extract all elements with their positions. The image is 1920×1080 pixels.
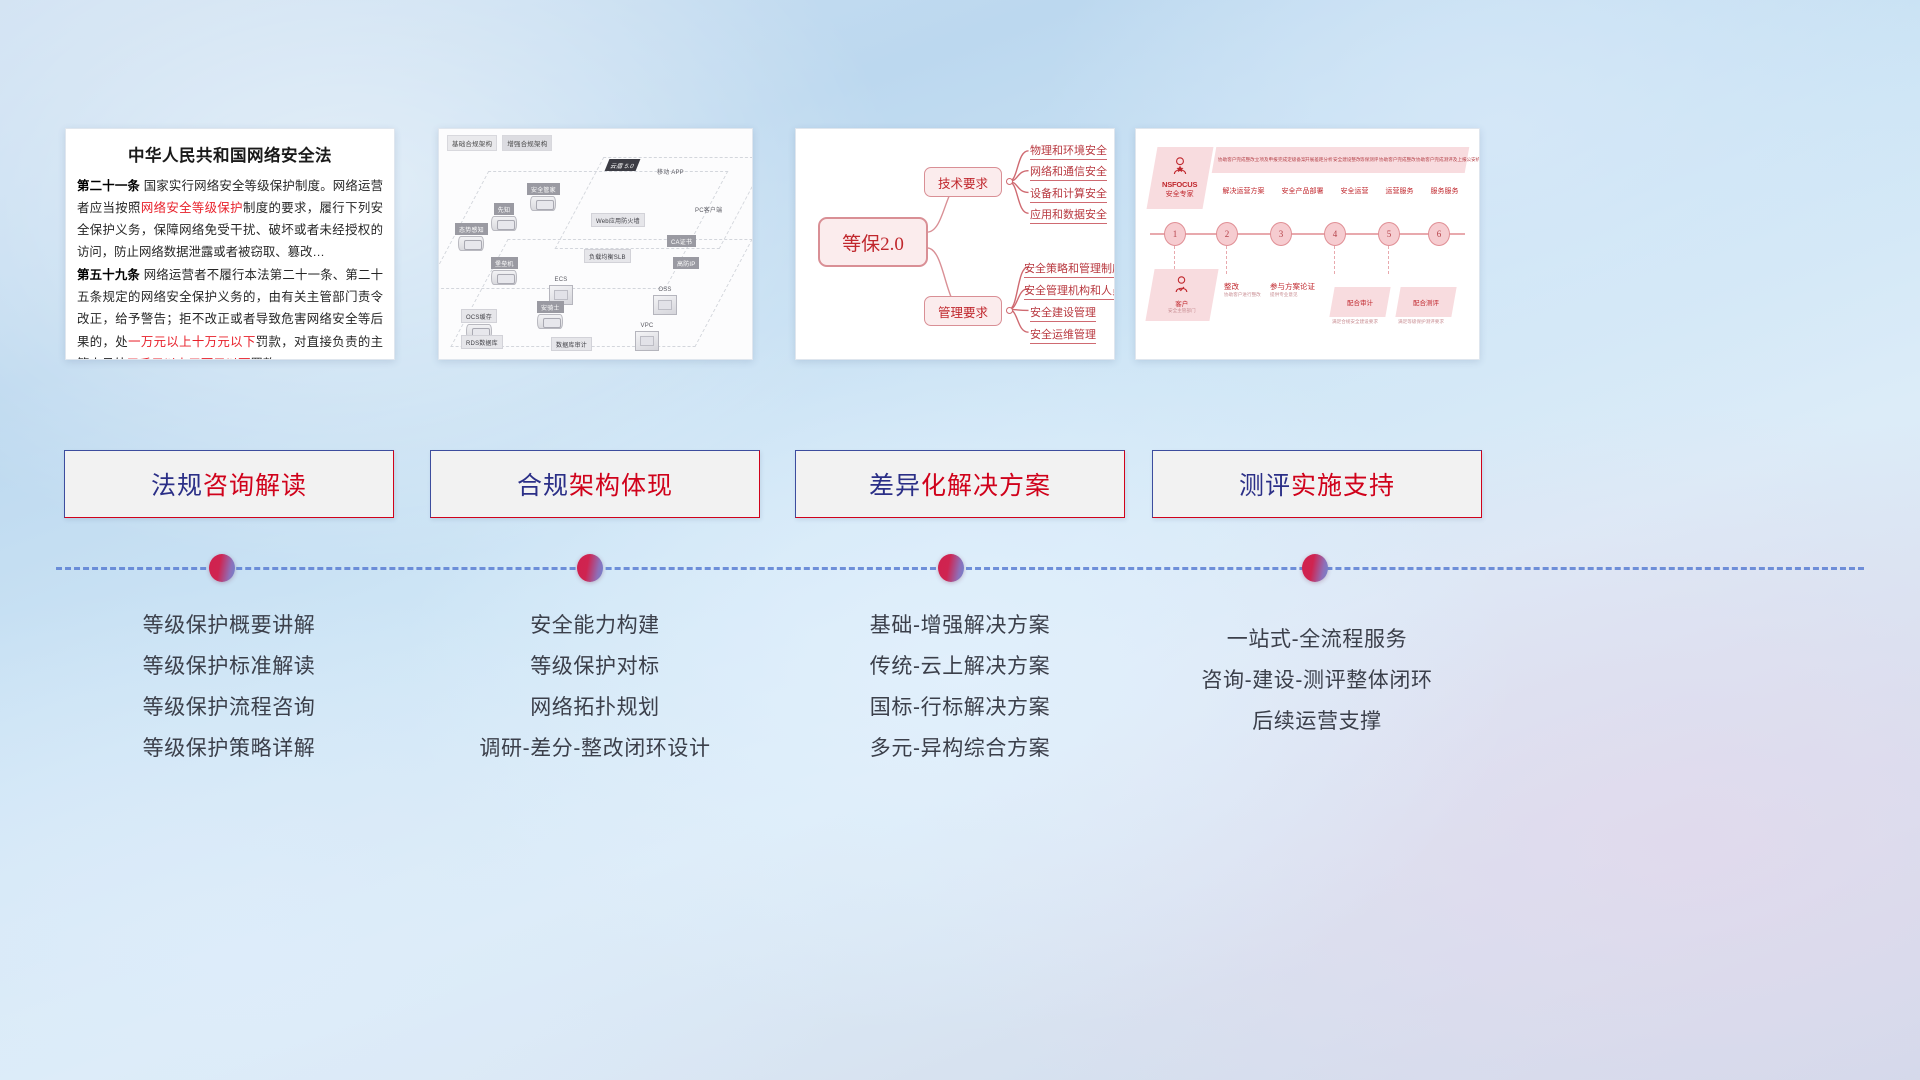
cylinder-icon [530, 196, 556, 211]
arch-label-security-butler: 安全管家 [527, 183, 560, 195]
label-1-tail: 咨询解读 [203, 472, 307, 500]
nsfocus-tag-0-sub: 协助客户进行整改 [1224, 292, 1261, 298]
mindmap-leaf-device: 设备和计算安全 [1030, 185, 1107, 203]
card-row: 中华人民共和国网络安全法 第二十一条 国家实行网络安全等级保护制度。网络运营者应… [0, 128, 1920, 363]
label-box-regulation-consulting[interactable]: 法规咨询解读 [64, 450, 394, 518]
list-item: 等级保护流程咨询 [64, 687, 394, 728]
law-title: 中华人民共和国网络安全法 [66, 142, 394, 166]
client-icon [1174, 276, 1189, 293]
nsfocus-step-1[interactable]: 1 [1164, 222, 1186, 246]
arch-label-xianzhi: 先知 [494, 203, 514, 215]
arch-node-vpc: VPC [635, 321, 659, 351]
arch-node-xianzhi: 先知 [491, 203, 517, 231]
mindmap: 等保2.0 技术要求 管理要求 物理和环境安全 网络和通信安全 设备和计算安全 … [796, 129, 1114, 359]
label-3-tail: 化解决方案 [921, 472, 1051, 500]
architecture-tabs: 基础合规架构 增强合规架构 [447, 135, 552, 151]
mindmap-leaf-network: 网络和通信安全 [1030, 163, 1107, 181]
label-2-tail: 架构体现 [569, 472, 673, 500]
poster-canvas: 中华人民共和国网络安全法 第二十一条 国家实行网络安全等级保护制度。网络运营者应… [0, 0, 1920, 1080]
arch-node-rds: RDS数据库 [461, 335, 503, 349]
list-item: 多元-异构综合方案 [795, 728, 1125, 769]
arch-node-situational-awareness: 态势感知 [455, 223, 488, 251]
arch-node-oss: OSS [653, 285, 677, 315]
nsfocus-tag-3-title: 配合测评 [1413, 297, 1439, 307]
label-row: 法规咨询解读 合规架构体现 差异化解决方案 测评实施支持 [0, 450, 1920, 520]
nsfocus-step-4[interactable]: 4 [1324, 222, 1346, 246]
law-article-59: 第五十九条 网络运营者不履行本法第二十一条、第二十五条规定的网络安全保护义务的，… [77, 264, 383, 360]
timeline [56, 567, 1864, 569]
connector-dash-4 [1388, 246, 1389, 274]
nsfocus-tag-2-title: 配合审计 [1347, 297, 1373, 307]
list-item: 等级保护对标 [430, 646, 760, 687]
label-box-assessment-support[interactable]: 测评实施支持 [1152, 450, 1482, 518]
arch-label-anti-ddos: 高防IP [673, 257, 699, 269]
arch-label-ecs: ECS [551, 275, 572, 284]
label-2-head: 合规 [517, 472, 569, 500]
law-article-59-highlight-1: 一万元以上十万元以下 [128, 335, 256, 349]
strip-item-3: 安全建设整改 [1333, 157, 1361, 163]
strip-item-4: 等保测评 [1360, 157, 1378, 163]
timeline-marker-4[interactable] [1302, 554, 1328, 582]
label-box-differentiated-solution[interactable]: 差异化解决方案 [795, 450, 1125, 518]
strip-item-2: 开展差距分析 [1305, 157, 1333, 163]
mindmap-branch-technical[interactable]: 技术要求 [924, 167, 1002, 197]
mindmap-expand-icon-mgmt[interactable] [1006, 307, 1013, 314]
law-article-21-label: 第二十一条 [77, 179, 140, 193]
card-cybersecurity-law[interactable]: 中华人民共和国网络安全法 第二十一条 国家实行网络安全等级保护制度。网络运营者应… [65, 128, 395, 360]
card-compliance-architecture[interactable]: 基础合规架构 增强合规架构 云盾 5.0 安全管家 先知 态势感知 [438, 128, 753, 360]
arch-label-pc-client: PC客户端 [691, 203, 726, 215]
arch-label-ocs-cache: OCS缓存 [461, 309, 497, 323]
nsfocus-process-diagram: NSFOCUS 安全专家 协助客户完成整改立项及申报 完成定级备案 开展差距分析… [1136, 129, 1479, 359]
mindmap-core-node[interactable]: 等保2.0 [818, 217, 928, 267]
detail-column-1: 等级保护概要讲解 等级保护标准解读 等级保护流程咨询 等级保护策略详解 [64, 605, 394, 769]
tab-enhanced-architecture[interactable]: 增强合规架构 [502, 135, 552, 151]
list-item: 传统-云上解决方案 [795, 646, 1125, 687]
law-article-59-text-c: 罚款。 [250, 357, 287, 360]
strip-item-5: 协助客户完成整改 [1379, 157, 1416, 163]
nsfocus-tag-3-sub: 满足等级保护测评要求 [1398, 319, 1444, 325]
nsfocus-step-6[interactable]: 6 [1428, 222, 1450, 246]
list-item: 后续运营支撑 [1152, 701, 1482, 742]
list-item: 咨询-建设-测评整体闭环 [1152, 660, 1482, 701]
nsfocus-step-3[interactable]: 3 [1270, 222, 1292, 246]
list-item: 等级保护标准解读 [64, 646, 394, 687]
label-text-1: 法规咨询解读 [151, 466, 307, 502]
cylinder-icon [458, 236, 484, 251]
label-4-tail: 实施支持 [1291, 472, 1395, 500]
strip-item-0: 协助客户完成整改立项及申报 [1218, 157, 1278, 163]
mindmap-leaf-operation: 安全运维管理 [1030, 326, 1096, 344]
label-text-4: 测评实施支持 [1239, 466, 1395, 502]
cylinder-icon [491, 216, 517, 231]
law-article-21: 第二十一条 国家实行网络安全等级保护制度。网络运营者应当按照网络安全等级保护制度… [77, 175, 383, 263]
timeline-marker-2[interactable] [577, 554, 603, 582]
mindmap-branch-management[interactable]: 管理要求 [924, 296, 1002, 326]
arch-label-ca: CA证书 [667, 235, 696, 247]
nsfocus-brand: NSFOCUS [1162, 180, 1197, 189]
mindmap-leaf-policy: 安全策略和管理制度 [1024, 260, 1115, 278]
strip-item-1: 完成定级备案 [1278, 157, 1306, 163]
list-item: 网络拓扑规划 [430, 687, 760, 728]
list-item: 调研-差分-整改闭环设计 [430, 728, 760, 769]
nsfocus-tag-1: 参与方案论证 提供专业意见 [1270, 281, 1315, 298]
mindmap-leaf-physical: 物理和环境安全 [1030, 142, 1107, 160]
law-article-59-label: 第五十九条 [77, 268, 140, 282]
arch-label-slb: 负载均衡SLB [584, 249, 631, 263]
client-label: 客户 [1168, 298, 1196, 308]
storage-icon [653, 295, 677, 315]
list-item: 等级保护概要讲解 [64, 605, 394, 646]
mindmap-leaf-application: 应用和数据安全 [1030, 206, 1107, 224]
nsfocus-tag-2-sub: 满足合规安全建设要求 [1332, 319, 1378, 325]
arch-node-cloudshield: 云盾 5.0 [605, 159, 641, 171]
cylinder-icon [491, 270, 517, 285]
phase-4: 服务服务 [1431, 186, 1459, 196]
phase-3: 运营服务 [1386, 186, 1414, 196]
nsfocus-expert-badge: NSFOCUS 安全专家 [1147, 147, 1214, 209]
arch-label-db-audit: 数据库审计 [551, 337, 592, 351]
nsfocus-tag-3: 配合测评 [1395, 287, 1456, 317]
connector-dash-3 [1334, 246, 1335, 274]
label-text-2: 合规架构体现 [517, 466, 673, 502]
phase-0: 解决运营方案 [1223, 186, 1265, 196]
nsfocus-tag-1-title: 参与方案论证 [1270, 282, 1315, 291]
law-article-21-highlight: 网络安全等级保护 [141, 201, 243, 215]
list-item: 一站式-全流程服务 [1152, 619, 1482, 660]
mindmap-expand-icon-tech[interactable] [1006, 178, 1013, 185]
strip-item-6: 协助客户完成测评及上报公安机关 [1416, 157, 1480, 163]
nsfocus-tag-2: 配合审计 [1329, 287, 1390, 317]
timeline-marker-3[interactable] [938, 554, 964, 582]
arch-label-vpc: VPC [637, 321, 658, 330]
arch-label-situational-awareness: 态势感知 [455, 223, 488, 235]
timeline-marker-1[interactable] [209, 554, 235, 582]
nsfocus-client-badge: 客户 安全主管部门 [1145, 269, 1218, 321]
label-3-head: 差异 [869, 472, 921, 500]
nsfocus-timeline-track [1150, 233, 1465, 235]
list-item: 安全能力构建 [430, 605, 760, 646]
list-item: 国标-行标解决方案 [795, 687, 1125, 728]
law-article-59-highlight-2: 五千元以上五万元以下 [127, 357, 251, 360]
phase-2: 安全运营 [1341, 186, 1369, 196]
arch-label-bastion-host: 堡垒机 [491, 257, 518, 269]
arch-node-anqishi: 安骑士 [537, 301, 564, 329]
arch-label-mobile-app: 移动 APP [653, 165, 688, 177]
detail-column-3: 基础-增强解决方案 传统-云上解决方案 国标-行标解决方案 多元-异构综合方案 [795, 605, 1125, 769]
nsfocus-tag-0-title: 整改 [1224, 282, 1239, 291]
arch-label-rds: RDS数据库 [461, 335, 503, 349]
nsfocus-step-2[interactable]: 2 [1216, 222, 1238, 246]
law-body: 第二十一条 国家实行网络安全等级保护制度。网络运营者应当按照网络安全等级保护制度… [66, 166, 394, 360]
list-item: 等级保护策略详解 [64, 728, 394, 769]
architecture-diagram: 基础合规架构 增强合规架构 云盾 5.0 安全管家 先知 态势感知 [439, 129, 752, 359]
nsfocus-brand-sub: 安全专家 [1162, 189, 1197, 199]
connector-dash-2 [1226, 246, 1227, 274]
mindmap-leaf-org: 安全管理机构和人员 [1024, 282, 1115, 300]
nsfocus-tag-1-sub: 提供专业意见 [1270, 292, 1315, 298]
card-nsfocus-process[interactable]: NSFOCUS 安全专家 协助客户完成整改立项及申报 完成定级备案 开展差距分析… [1135, 128, 1480, 360]
security-expert-icon [1172, 157, 1188, 175]
arch-node-bastion-host: 堡垒机 [491, 257, 518, 285]
nsfocus-tag-0: 整改 协助客户进行整改 [1224, 281, 1261, 298]
list-item: 基础-增强解决方案 [795, 605, 1125, 646]
nsfocus-phase-row: 解决运营方案 安全产品部署 安全运营 运营服务 服务服务 [1214, 179, 1467, 203]
detail-column-2: 安全能力构建 等级保护对标 网络拓扑规划 调研-差分-整改闭环设计 [430, 605, 760, 769]
nsfocus-top-strip: 协助客户完成整改立项及申报 完成定级备案 开展差距分析 安全建设整改 等保测评 … [1212, 147, 1470, 173]
label-text-3: 差异化解决方案 [869, 466, 1051, 502]
arch-label-waf: Web应用防火墙 [591, 213, 645, 227]
label-box-compliance-architecture[interactable]: 合规架构体现 [430, 450, 760, 518]
phase-1: 安全产品部署 [1282, 186, 1324, 196]
arch-label-oss: OSS [654, 285, 675, 294]
mindmap-leaf-construction: 安全建设管理 [1030, 304, 1096, 322]
cylinder-icon [537, 314, 563, 329]
label-4-head: 测评 [1239, 472, 1291, 500]
label-1-head: 法规 [151, 472, 203, 500]
arch-label-anqishi: 安骑士 [537, 301, 564, 313]
network-icon [635, 331, 659, 351]
nsfocus-step-5[interactable]: 5 [1378, 222, 1400, 246]
arch-node-security-butler: 安全管家 [527, 183, 560, 211]
tab-basic-architecture[interactable]: 基础合规架构 [447, 135, 497, 151]
client-sub: 安全主管部门 [1168, 308, 1196, 314]
detail-column-4: 一站式-全流程服务 咨询-建设-测评整体闭环 后续运营支撑 [1152, 605, 1482, 742]
card-mindmap-dengbao[interactable]: 等保2.0 技术要求 管理要求 物理和环境安全 网络和通信安全 设备和计算安全 … [795, 128, 1115, 360]
